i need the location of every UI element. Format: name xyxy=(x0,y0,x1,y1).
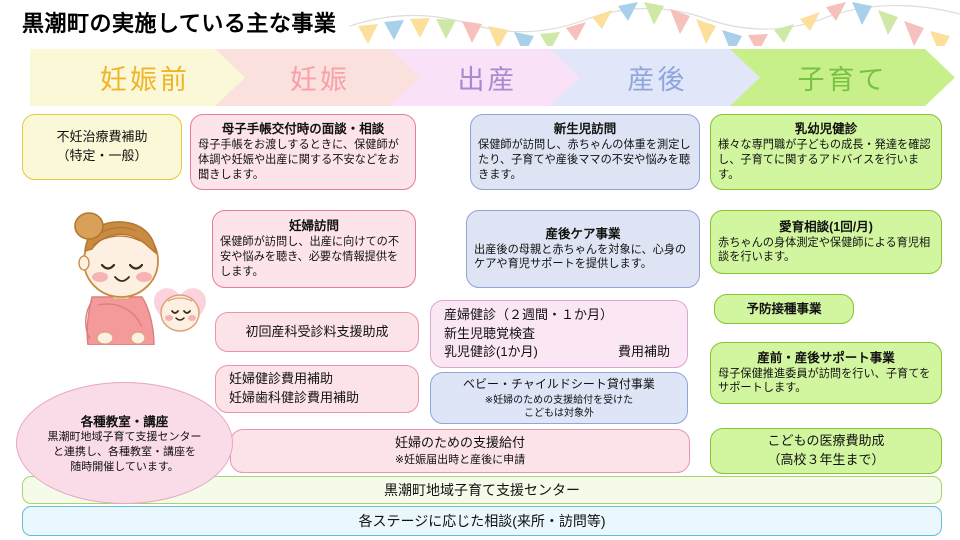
card-checkup-line3: 乳児健診(1か月) xyxy=(444,343,538,362)
card-child-seat-note2: こどもは対象外 xyxy=(438,407,680,420)
card-infant-checkup-body: 様々な専門職が子どもの成長・発達を確認し、子育てに関するアドバイスを行います。 xyxy=(718,138,934,183)
card-boshi-techo[interactable]: 母子手帳交付時の面談・相談 母子手帳をお渡しするときに、保健師が体調や妊娠や出産… xyxy=(190,114,416,190)
card-vaccination-label: 予防接種事業 xyxy=(722,301,846,318)
card-checkup-group[interactable]: 産婦健診（２週間・１か月） 新生児聴覚検査 乳児健診(1か月) 費用補助 xyxy=(430,300,688,368)
card-postpartum-care-title: 産後ケア事業 xyxy=(474,226,692,243)
card-support-benefit-title: 妊婦のための支援給付 xyxy=(238,434,682,453)
card-checkup-tag: 費用補助 xyxy=(618,343,670,362)
card-newborn-visit-body: 保健師が訪問し、赤ちゃんの体重を測定したり、子育てや産後ママの不安や悩みを聴きま… xyxy=(478,138,692,183)
card-classes-line3: 随時開催しています。 xyxy=(70,460,179,475)
card-newborn-visit-title: 新生児訪問 xyxy=(478,121,692,138)
stage-3-label: 産後 xyxy=(628,58,688,97)
card-infant-checkup-title: 乳幼児健診 xyxy=(718,121,934,138)
stage-2-label: 出産 xyxy=(458,58,518,97)
pregnant-woman-illustration xyxy=(58,205,208,345)
bunting-decoration xyxy=(350,0,960,46)
card-first-obstetric-visit[interactable]: 初回産科受診料支援助成 xyxy=(215,312,419,352)
stage-4: 子育て xyxy=(730,49,955,106)
page-title: 黒潮町の実施している主な事業 xyxy=(22,6,336,38)
card-aiiku-soudan-body: 赤ちゃんの身体測定や保健師による育児相談を行います。 xyxy=(718,236,934,266)
card-pregnancy-checkup-subsidy[interactable]: 妊婦健診費用補助 妊婦歯科健診費用補助 xyxy=(215,365,419,413)
bar-stage-consultation[interactable]: 各ステージに応じた相談(来所・訪問等) xyxy=(22,506,942,536)
stage-0-label: 妊娠前 xyxy=(100,58,190,97)
card-boshi-techo-body: 母子手帳をお渡しするときに、保健師が体調や妊娠や出産に関する不安などをお聞きしま… xyxy=(198,138,408,183)
card-postpartum-care[interactable]: 産後ケア事業 出産後の母親と赤ちゃんを対象に、心身のケアや育児サポートを提供しま… xyxy=(466,210,700,288)
card-child-seat-note1: ※妊婦のための支援給付を受けた xyxy=(438,394,680,407)
card-child-seat-lending[interactable]: ベビー・チャイルドシート貸付事業 ※妊婦のための支援給付を受けた こどもは対象外 xyxy=(430,372,688,424)
card-fertility-subsidy[interactable]: 不妊治療費補助 （特定・一般） xyxy=(22,114,182,180)
card-classes-line2: と連携し、各種教室・講座を xyxy=(53,445,196,460)
card-fertility-line1: 不妊治療費補助 xyxy=(30,128,174,147)
card-prenatal-support-title: 産前・産後サポート事業 xyxy=(718,350,934,367)
card-child-medical-line1: こどもの医療費助成 xyxy=(718,432,934,451)
card-child-medical-line2: （高校３年生まで） xyxy=(718,451,934,470)
stage-banner: 妊娠前 妊娠 出産 産後 xyxy=(30,49,955,106)
card-boshi-techo-title: 母子手帳交付時の面談・相談 xyxy=(198,121,408,138)
stage-1-label: 妊娠 xyxy=(290,58,350,97)
card-first-obstetric-label: 初回産科受診料支援助成 xyxy=(223,323,411,342)
card-checkup-line1: 産婦健診（２週間・１か月） xyxy=(438,306,680,325)
card-checkup-line2: 新生児聴覚検査 xyxy=(438,325,680,344)
card-child-medical-subsidy[interactable]: こどもの医療費助成 （高校３年生まで） xyxy=(710,428,942,474)
card-pregnancy-checkup-line1: 妊婦健診費用補助 xyxy=(223,370,411,389)
bar-stage-consultation-label: 各ステージに応じた相談(来所・訪問等) xyxy=(358,511,605,531)
card-classes-title: 各種教室・講座 xyxy=(81,411,169,430)
card-classes-and-lectures[interactable]: 各種教室・講座 黒潮町地域子育て支援センター と連携し、各種教室・講座を 随時開… xyxy=(16,382,233,504)
card-pregnant-visit-body: 保健師が訪問し、出産に向けての不安や悩みを聴き、必要な情報提供をします。 xyxy=(220,235,408,280)
card-prenatal-support-body: 母子保健推進委員が訪問を行い、子育てをサポートします。 xyxy=(718,367,934,397)
card-vaccination[interactable]: 予防接種事業 xyxy=(714,294,854,324)
card-newborn-visit[interactable]: 新生児訪問 保健師が訪問し、赤ちゃんの体重を測定したり、子育てや産後ママの不安や… xyxy=(470,114,700,190)
card-pregnant-visit-title: 妊婦訪問 xyxy=(220,218,408,235)
card-child-seat-title: ベビー・チャイルドシート貸付事業 xyxy=(438,376,680,393)
card-pregnancy-checkup-line2: 妊婦歯科健診費用補助 xyxy=(223,389,411,408)
card-infant-checkup[interactable]: 乳幼児健診 様々な専門職が子どもの成長・発達を確認し、子育てに関するアドバイスを… xyxy=(710,114,942,190)
card-postpartum-care-body: 出産後の母親と赤ちゃんを対象に、心身のケアや育児サポートを提供します。 xyxy=(474,243,692,273)
card-prenatal-postnatal-support[interactable]: 産前・産後サポート事業 母子保健推進委員が訪問を行い、子育てをサポートします。 xyxy=(710,342,942,404)
card-fertility-line2: （特定・一般） xyxy=(30,147,174,166)
card-pregnant-visit[interactable]: 妊婦訪問 保健師が訪問し、出産に向けての不安や悩みを聴き、必要な情報提供をします… xyxy=(212,210,416,288)
stage-4-label: 子育て xyxy=(798,58,888,97)
card-classes-line1: 黒潮町地域子育て支援センター xyxy=(48,430,202,445)
card-support-benefit-note: ※妊娠届出時と産後に申請 xyxy=(238,453,682,467)
bar-support-center-label: 黒潮町地域子育て支援センター xyxy=(384,480,580,500)
card-pregnant-support-benefit[interactable]: 妊婦のための支援給付 ※妊娠届出時と産後に申請 xyxy=(230,429,690,473)
card-aiiku-soudan[interactable]: 愛育相談(1回/月) 赤ちゃんの身体測定や保健師による育児相談を行います。 xyxy=(710,210,942,274)
card-aiiku-soudan-title: 愛育相談(1回/月) xyxy=(718,219,934,236)
